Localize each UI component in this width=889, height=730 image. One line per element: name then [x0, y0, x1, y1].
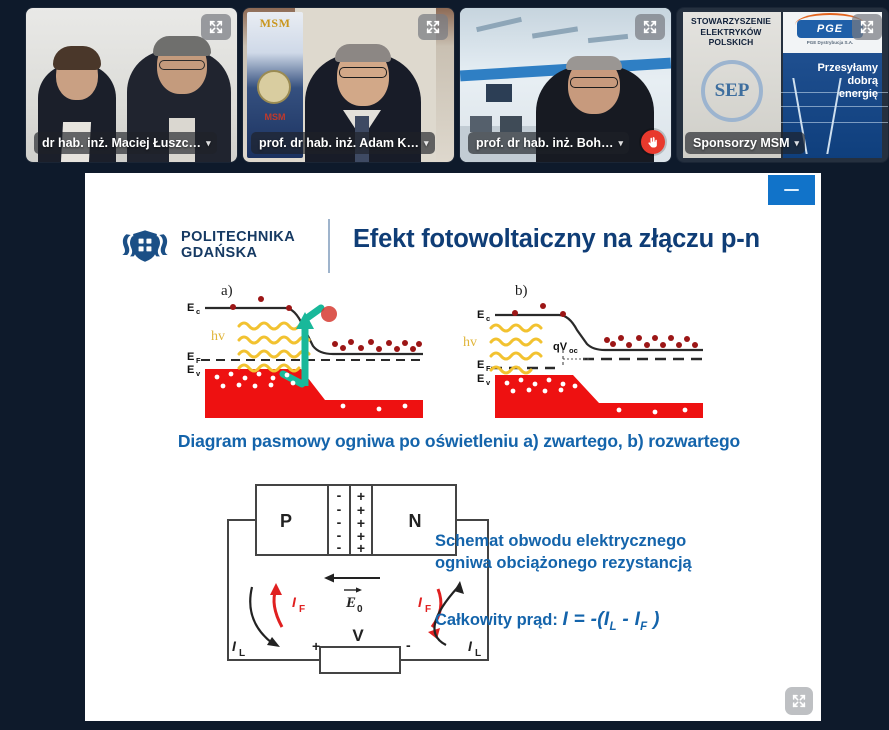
band-diagram-panel-a: a) E c E F E v hv [183, 278, 438, 418]
svg-text:E: E [477, 359, 484, 371]
svg-text:I: I [232, 638, 237, 654]
svg-text:E: E [187, 351, 194, 363]
chevron-down-icon[interactable]: ▾ [206, 138, 211, 149]
video-tile-2[interactable]: MSM MSM prof. dr hab. inż. Adam K… ▾ [243, 8, 454, 162]
text-line-1: Schemat obwodu elektrycznego [435, 531, 771, 553]
svg-text:oc: oc [569, 346, 578, 355]
svg-text:I: I [292, 594, 297, 610]
svg-text:I: I [418, 594, 423, 610]
svg-text:F: F [196, 356, 201, 365]
svg-text:F: F [486, 364, 491, 373]
slide-text-block: Schemat obwodu elektrycznego ogniwa obci… [435, 531, 771, 632]
svg-text:L: L [475, 648, 481, 659]
svg-text:E: E [477, 309, 484, 321]
svg-text:L: L [239, 648, 245, 659]
logo-line-1: POLITECHNIKA [181, 229, 295, 245]
svg-text:v: v [486, 378, 491, 387]
shared-slide: POLITECHNIKA GDAŃSKA Efekt fotowoltaiczn… [85, 173, 821, 721]
header-divider [328, 219, 330, 273]
minimize-icon [784, 189, 799, 192]
region-n-label: N [409, 511, 422, 531]
svg-text:c: c [486, 314, 490, 323]
equation-prefix: Całkowity prąd: [435, 611, 558, 629]
svg-text:hv: hv [211, 329, 225, 344]
total-current-equation: Całkowity prąd: I = -(IL - IF ) [435, 609, 771, 633]
equation-body: I = -(IL - IF ) [562, 609, 659, 630]
participant-name-3[interactable]: prof. dr hab. inż. Boh… ▾ [468, 132, 629, 154]
svg-text:E: E [187, 302, 194, 314]
participant-name-4[interactable]: Sponsorzy MSM ▾ [685, 132, 805, 154]
svg-text:a): a) [221, 283, 233, 299]
svg-text:b): b) [515, 283, 528, 299]
raise-hand-badge[interactable] [641, 130, 665, 154]
svg-text:v: v [196, 369, 201, 378]
video-tile-3[interactable]: prof. dr hab. inż. Boh… ▾ [460, 8, 671, 162]
svg-text:E: E [187, 364, 194, 376]
band-diagram-panel-b: b) E c E F E v hv qV oc [463, 278, 718, 418]
slide-title: Efekt fotowoltaiczny na złączu p-n [353, 225, 805, 254]
text-line-2: ogniwa obciążonego rezystancją [435, 553, 771, 575]
svg-text:F: F [425, 604, 431, 615]
svg-text:-: - [337, 539, 342, 555]
msm-banner-text: MSM [252, 16, 298, 31]
chevron-down-icon[interactable]: ▾ [795, 138, 800, 149]
video-filmstrip: dr hab. inż. Maciej Łuszc… ▾ MSM MSM [0, 0, 889, 168]
svg-text:-: - [406, 637, 411, 653]
svg-text:+: + [357, 540, 365, 556]
load-label: V [352, 626, 364, 645]
expand-icon[interactable] [418, 14, 448, 40]
logo-text: POLITECHNIKA GDAŃSKA [181, 229, 295, 261]
svg-text:E: E [345, 595, 356, 611]
svg-text:qV: qV [553, 341, 568, 353]
svg-text:c: c [196, 307, 200, 316]
svg-text:+: + [312, 638, 320, 654]
pge-slogan: Przesyłamy dobrą energię [816, 62, 878, 101]
participant-label: Sponsorzy MSM [693, 136, 790, 150]
region-p-label: P [280, 511, 292, 531]
participant-label: prof. dr hab. inż. Adam K… [259, 136, 419, 150]
crest-icon [116, 225, 174, 265]
participant-name-2[interactable]: prof. dr hab. inż. Adam K… ▾ [251, 132, 435, 154]
sep-logo: SEP [701, 60, 763, 122]
video-tile-1[interactable]: dr hab. inż. Maciej Łuszc… ▾ [26, 8, 237, 162]
chevron-down-icon[interactable]: ▾ [619, 138, 624, 149]
participant-name-1[interactable]: dr hab. inż. Maciej Łuszc… ▾ [34, 132, 217, 154]
expand-icon[interactable] [201, 14, 231, 40]
figure-caption: Diagram pasmowy ogniwa po oświetleniu a)… [109, 431, 809, 452]
chevron-down-icon[interactable]: ▾ [424, 138, 429, 149]
fullscreen-icon[interactable] [785, 687, 813, 715]
svg-text:F: F [299, 604, 305, 615]
participant-label: prof. dr hab. inż. Boh… [476, 136, 614, 150]
svg-text:I: I [468, 638, 473, 654]
logo-line-2: GDAŃSKA [181, 245, 295, 261]
band-diagram-figure: a) E c E F E v hv [85, 278, 821, 418]
svg-text:hv: hv [463, 335, 477, 350]
minimize-button[interactable] [768, 175, 815, 205]
slide-header: POLITECHNIKA GDAŃSKA Efekt fotowoltaiczn… [85, 215, 821, 277]
sep-poster-title: STOWARZYSZENIE ELEKTRYKÓW POLSKICH [685, 16, 777, 48]
politechnika-gdanska-logo: POLITECHNIKA GDAŃSKA [116, 225, 295, 265]
pge-subtitle: PGE Dystrybucja S.A. [795, 40, 865, 45]
svg-text:0: 0 [357, 604, 363, 615]
meeting-window: dr hab. inż. Maciej Łuszc… ▾ MSM MSM [0, 0, 889, 730]
svg-text:E: E [477, 373, 484, 385]
expand-icon[interactable] [852, 14, 882, 40]
participant-label: dr hab. inż. Maciej Łuszc… [42, 136, 201, 150]
video-tile-4[interactable]: STOWARZYSZENIE ELEKTRYKÓW POLSKICH SEP P… [677, 8, 888, 162]
expand-icon[interactable] [635, 14, 665, 40]
